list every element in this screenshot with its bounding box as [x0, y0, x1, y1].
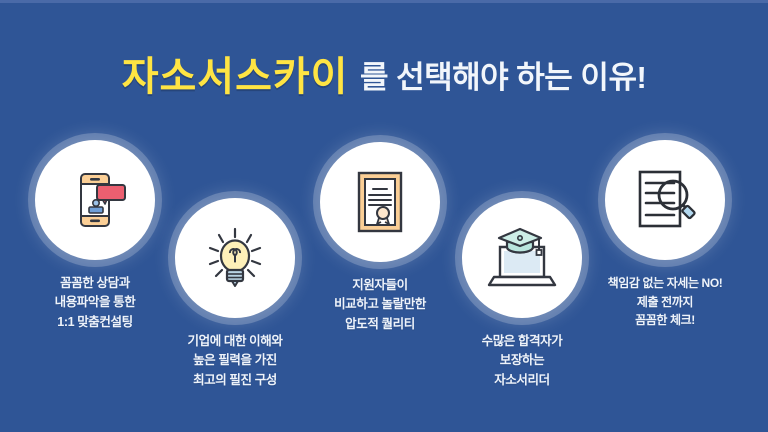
icon-bubble-4	[462, 198, 582, 318]
document-magnifier-icon	[628, 163, 702, 237]
benefit-card-1: 꼼꼼한 상담과 내용파악을 통한 1:1 맞춤컨설팅	[20, 140, 170, 332]
caption-line: 꼼꼼한 체크!	[590, 311, 740, 330]
icon-bubble-5	[605, 140, 725, 260]
icon-bubble-3	[320, 142, 440, 262]
benefit-card-4: 수많은 합격자가 보장하는 자소서리더	[447, 198, 597, 390]
benefit-card-5: 책임감 없는 자세는 NO! 제출 전까지 꼼꼼한 체크!	[590, 140, 740, 330]
caption-line: 압도적 퀄리티	[305, 315, 455, 334]
caption-line: 최고의 필진 구성	[160, 371, 310, 390]
page-title: 자소서스카이 를 선택해야 하는 이유!	[0, 44, 768, 102]
caption-line: 기업에 대한 이해와	[160, 332, 310, 351]
benefit-caption-2: 기업에 대한 이해와 높은 필력을 가진 최고의 필진 구성	[160, 332, 310, 390]
caption-line: 1:1 맞춤컨설팅	[20, 313, 170, 332]
benefit-caption-5: 책임감 없는 자세는 NO! 제출 전까지 꼼꼼한 체크!	[590, 274, 740, 330]
caption-line: 수많은 합격자가	[447, 332, 597, 351]
title-rest: 를 선택해야 하는 이유!	[360, 52, 646, 97]
icon-bubble-1	[35, 140, 155, 260]
title-highlight: 자소서스카이	[122, 44, 349, 102]
icon-bubble-2	[175, 198, 295, 318]
benefit-card-3: 지원자들이 비교하고 놀랄만한 압도적 퀄리티	[305, 142, 455, 334]
slide-canvas: 자소서스카이 를 선택해야 하는 이유! 꼼꼼한 상담과 내용파악을 통한 1:	[0, 0, 768, 432]
caption-line: 자소서리더	[447, 371, 597, 390]
caption-line: 보장하는	[447, 351, 597, 370]
caption-line: 비교하고 놀랄만한	[305, 295, 455, 314]
benefit-caption-3: 지원자들이 비교하고 놀랄만한 압도적 퀄리티	[305, 276, 455, 334]
benefit-card-2: 기업에 대한 이해와 높은 필력을 가진 최고의 필진 구성	[160, 198, 310, 390]
smartphone-chat-icon	[59, 164, 131, 236]
top-edge-strip	[0, 0, 768, 3]
benefit-caption-4: 수많은 합격자가 보장하는 자소서리더	[447, 332, 597, 390]
certificate-icon	[345, 167, 415, 237]
caption-line: 높은 필력을 가진	[160, 351, 310, 370]
caption-line: 지원자들이	[305, 276, 455, 295]
lightbulb-icon	[197, 220, 273, 296]
benefit-caption-1: 꼼꼼한 상담과 내용파악을 통한 1:1 맞춤컨설팅	[20, 274, 170, 332]
laptop-graduation-cap-icon	[483, 219, 561, 297]
caption-line: 제출 전까지	[590, 293, 740, 312]
caption-line: 책임감 없는 자세는 NO!	[590, 274, 740, 293]
caption-line: 내용파악을 통한	[20, 293, 170, 312]
caption-line: 꼼꼼한 상담과	[20, 274, 170, 293]
